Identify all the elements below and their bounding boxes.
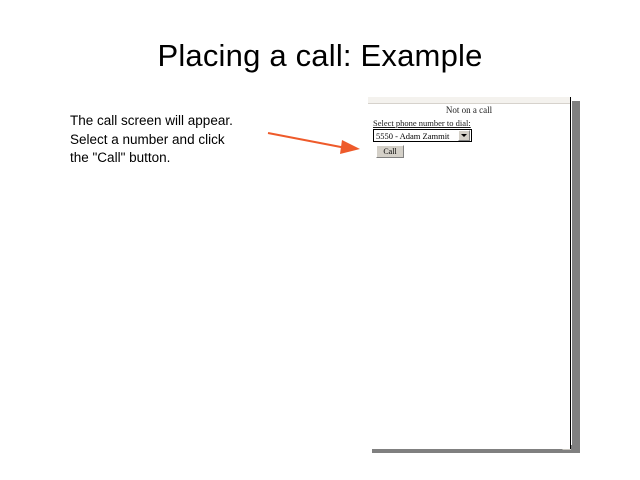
page-title: Placing a call: Example <box>0 38 640 74</box>
phone-number-select[interactable]: 5550 - Adam Zammit <box>373 129 472 142</box>
phone-number-select-value: 5550 - Adam Zammit <box>374 131 458 141</box>
screenshot-shadow-right <box>572 101 580 453</box>
body-text: The call screen will appear. Select a nu… <box>70 112 285 168</box>
body-text-line: The call screen will appear. <box>70 112 285 131</box>
embedded-app-screenshot: Not on a call Select phone number to dia… <box>368 97 571 449</box>
call-button[interactable]: Call <box>376 145 404 158</box>
chevron-down-icon[interactable] <box>458 130 470 141</box>
dial-number-label: Select phone number to dial: <box>373 118 471 128</box>
body-text-line: Select a number and click <box>70 131 285 150</box>
toolbar-band <box>368 97 570 104</box>
body-text-line: the "Call" button. <box>70 149 285 168</box>
call-status-text: Not on a call <box>368 105 570 115</box>
slide-canvas: Placing a call: Example The call screen … <box>0 0 640 480</box>
